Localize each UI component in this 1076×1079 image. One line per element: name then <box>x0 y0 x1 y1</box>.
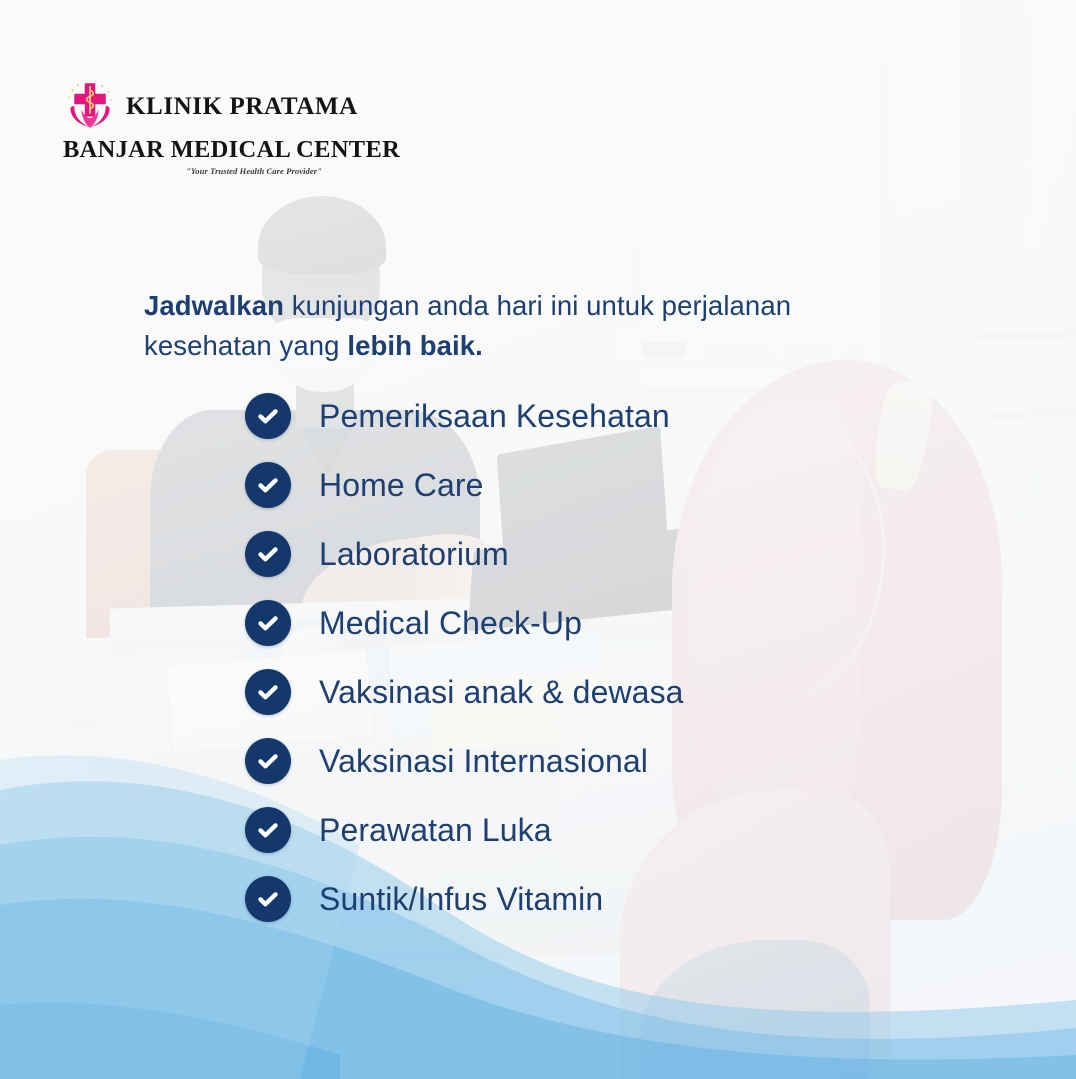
service-label: Vaksinasi anak & dewasa <box>319 676 684 708</box>
service-label: Suntik/Infus Vitamin <box>319 883 603 915</box>
list-item[interactable]: Perawatan Luka <box>245 795 965 864</box>
list-item[interactable]: Vaksinasi Internasional <box>245 726 965 795</box>
promo-poster: KLINIK PRATAMA BANJAR MEDICAL CENTER "Yo… <box>0 0 1076 1079</box>
brand-logo: KLINIK PRATAMA BANJAR MEDICAL CENTER "Yo… <box>62 78 324 176</box>
service-label: Perawatan Luka <box>319 814 552 846</box>
check-circle-icon <box>245 738 291 784</box>
check-circle-icon <box>245 531 291 577</box>
list-item[interactable]: Laboratorium <box>245 519 965 588</box>
logo-name-line-1: KLINIK PRATAMA <box>126 94 358 119</box>
check-circle-icon <box>245 669 291 715</box>
list-item[interactable]: Suntik/Infus Vitamin <box>245 864 965 933</box>
service-label: Medical Check-Up <box>319 607 582 639</box>
service-label: Home Care <box>319 469 484 501</box>
service-label: Vaksinasi Internasional <box>319 745 648 777</box>
logo-tagline: "Your Trusted Health Care Provider" <box>62 166 324 176</box>
logo-top-row: KLINIK PRATAMA <box>62 78 324 134</box>
check-circle-icon <box>245 393 291 439</box>
service-label: Pemeriksaan Kesehatan <box>319 400 670 432</box>
check-circle-icon <box>245 462 291 508</box>
list-item[interactable]: Medical Check-Up <box>245 588 965 657</box>
headline-bold-tail: lebih baik. <box>347 330 483 361</box>
list-item[interactable]: Home Care <box>245 450 965 519</box>
page-headline: Jadwalkan kunjungan anda hari ini untuk … <box>144 286 844 365</box>
service-label: Laboratorium <box>319 538 509 570</box>
check-circle-icon <box>245 876 291 922</box>
services-checklist: Pemeriksaan Kesehatan Home Care Laborato… <box>245 381 965 933</box>
headline-bold-lead: Jadwalkan <box>144 290 284 321</box>
medical-cross-hands-icon <box>62 78 118 134</box>
logo-name-line-2: BANJAR MEDICAL CENTER <box>63 138 324 163</box>
check-circle-icon <box>245 807 291 853</box>
list-item[interactable]: Pemeriksaan Kesehatan <box>245 381 965 450</box>
check-circle-icon <box>245 600 291 646</box>
list-item[interactable]: Vaksinasi anak & dewasa <box>245 657 965 726</box>
